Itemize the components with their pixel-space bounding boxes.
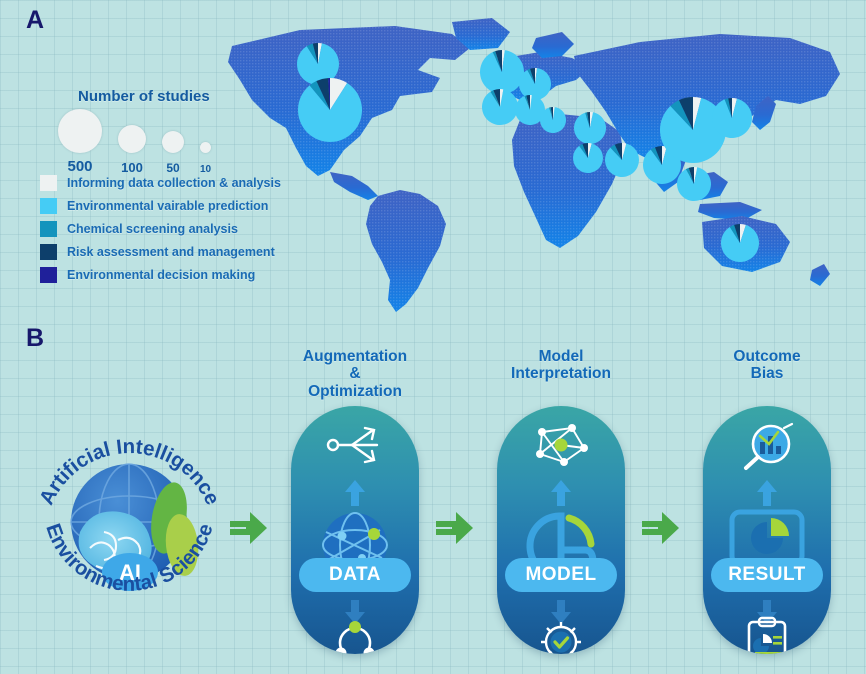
- legend-category-list: Informing data collection & analysisEnvi…: [40, 175, 330, 283]
- bubble-label-10: 10: [194, 164, 217, 175]
- graph-nodes-icon: [530, 422, 592, 468]
- pie-middle-east: [605, 143, 639, 177]
- bubble-size-500: [58, 109, 102, 153]
- ai-environmental-science-logo: AI Artificial Intelligence Environmental…: [22, 410, 237, 625]
- legend-swatch: [40, 244, 57, 260]
- legend-swatch: [40, 175, 57, 191]
- bubble-label-50: 50: [156, 161, 190, 175]
- pie-japan-korea: [712, 98, 752, 138]
- result-card[interactable]: RESULT: [703, 406, 831, 654]
- data-card[interactable]: DATA: [291, 406, 419, 654]
- stage-title: Model Interpretation: [481, 348, 641, 406]
- flow-arrow-3: [640, 508, 682, 548]
- world-map-panel: Number of studies 5001005010 Informing d…: [0, 0, 866, 320]
- pie-north-africa: [573, 143, 603, 173]
- up-arrow-icon: [548, 478, 574, 508]
- model-pill: MODEL: [505, 558, 617, 592]
- pie-italy: [574, 112, 606, 144]
- flow-arrow-2: [434, 508, 476, 548]
- up-arrow-icon: [754, 478, 780, 508]
- up-arrow-icon: [342, 478, 368, 508]
- flow-arrow-1: [228, 508, 270, 548]
- legend-row: Informing data collection & analysis: [40, 175, 330, 191]
- legend-title: Number of studies: [78, 88, 330, 105]
- bubble-label-500: 500: [52, 158, 108, 175]
- legend-row: Environmental decision making: [40, 267, 330, 283]
- legend-label: Risk assessment and management: [67, 245, 275, 259]
- pie-iceland-uk: [480, 50, 524, 94]
- pie-southeast-asia: [677, 167, 711, 201]
- magnifier-chart-icon: [738, 422, 796, 474]
- workflow-panel: AI Artificial Intelligence Environmental…: [0, 330, 866, 674]
- legend-row: Risk assessment and management: [40, 244, 330, 260]
- legend-row: Environmental vairable prediction: [40, 198, 330, 214]
- bubble-size-50: [162, 131, 184, 153]
- legend-label: Chemical screening analysis: [67, 222, 238, 236]
- legend-label: Environmental decision making: [67, 268, 255, 282]
- pie-germany: [540, 107, 566, 133]
- stage-outcome-bias: Outcome Bias: [687, 348, 847, 654]
- legend-row: Chemical screening analysis: [40, 221, 330, 237]
- legend-swatch: [40, 198, 57, 214]
- bubble-size-10: [200, 142, 211, 153]
- data-pill: DATA: [299, 558, 411, 592]
- clipboard-report-icon: [741, 616, 793, 654]
- gear-check-icon: [536, 618, 586, 654]
- figure-canvas: A B: [0, 0, 866, 674]
- pie-australia: [721, 224, 759, 262]
- share-network-icon: [325, 422, 385, 468]
- result-pill: RESULT: [711, 558, 823, 592]
- legend-label: Informing data collection & analysis: [67, 176, 281, 190]
- legend-swatch: [40, 221, 57, 237]
- bubble-size-100: [118, 125, 146, 153]
- pie-spain: [482, 89, 518, 125]
- bubble-label-100: 100: [112, 160, 152, 175]
- pie-scandinavia: [519, 68, 551, 100]
- stage-title: Augmentation & Optimization: [275, 348, 435, 406]
- map-legend: Number of studies 5001005010 Informing d…: [40, 88, 330, 290]
- bubble-size-legend: 5001005010: [40, 113, 330, 175]
- model-card[interactable]: MODEL: [497, 406, 625, 654]
- legend-label: Environmental vairable prediction: [67, 199, 268, 213]
- stage-augmentation-optimization: Augmentation & Optimization: [275, 348, 435, 654]
- stage-model-interpretation: Model Interpretation: [481, 348, 641, 654]
- stage-title: Outcome Bias: [687, 348, 847, 406]
- legend-swatch: [40, 267, 57, 283]
- cycle-nodes-icon: [329, 620, 381, 654]
